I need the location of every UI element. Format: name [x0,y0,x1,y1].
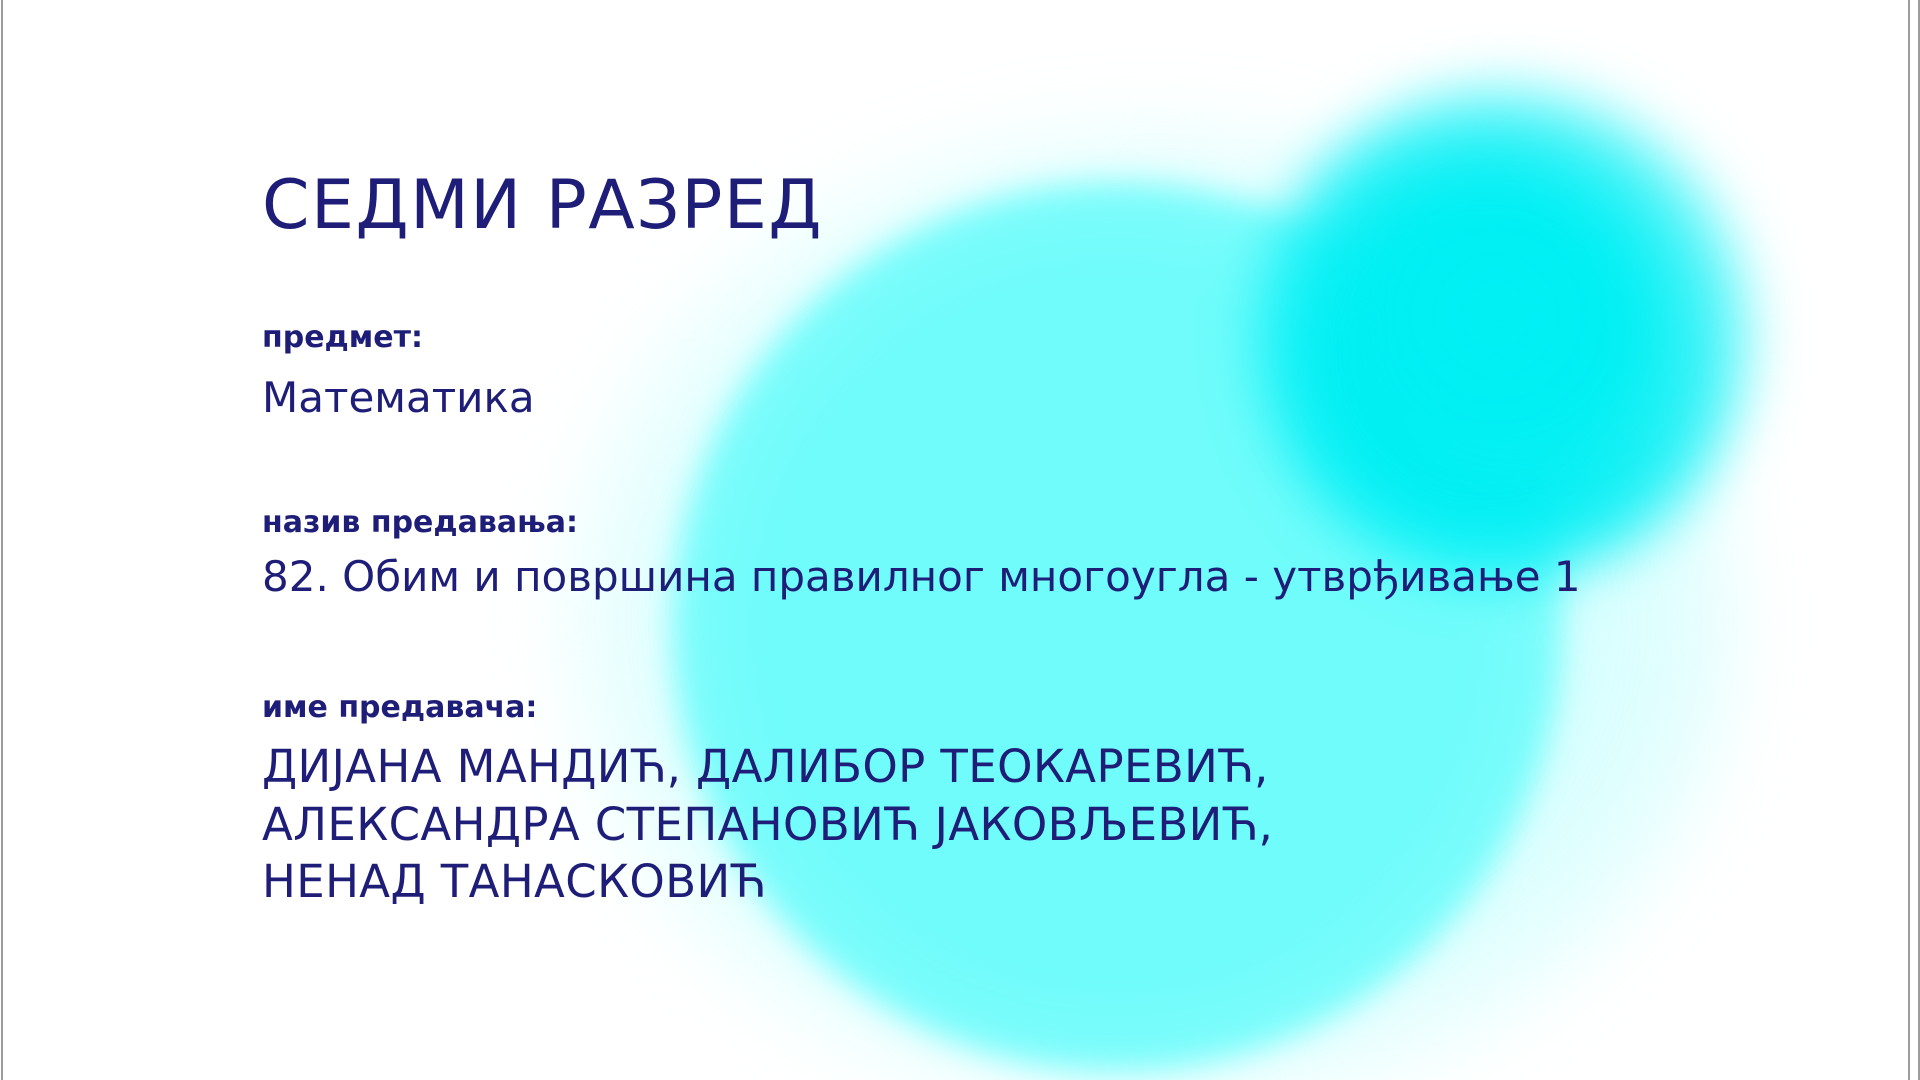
teacher-name-line: НЕНАД ТАНАСКОВИЋ [262,853,1273,911]
lecture-field: назив предавања: 82. Обим и површина пра… [262,505,1581,604]
lecture-value: 82. Обим и површина правилног многоугла … [262,551,1581,604]
subject-value: Математика [262,372,535,425]
lecture-label: назив предавања: [262,505,1581,541]
right-frame-line [1908,0,1910,1080]
left-frame-line [1,0,3,1080]
teacher-name-line: АЛЕКСАНДРА СТЕПАНОВИЋ ЈАКОВЉЕВИЋ, [262,796,1273,854]
subject-label: предмет: [262,320,535,356]
teacher-names-list: ДИЈАНА МАНДИЋ, ДАЛИБОР ТЕОКАРЕВИЋ, АЛЕКС… [262,738,1273,911]
title-slide: СЕДМИ РАЗРЕД предмет: Математика назив п… [0,0,1920,1080]
teacher-field: име предавача: ДИЈАНА МАНДИЋ, ДАЛИБОР ТЕ… [262,690,1273,911]
text-content: СЕДМИ РАЗРЕД предмет: Математика назив п… [262,0,1822,1080]
teacher-name-line: ДИЈАНА МАНДИЋ, ДАЛИБОР ТЕОКАРЕВИЋ, [262,738,1273,796]
subject-field: предмет: Математика [262,320,535,425]
page-title: СЕДМИ РАЗРЕД [262,172,823,240]
teacher-label: име предавача: [262,690,1273,726]
